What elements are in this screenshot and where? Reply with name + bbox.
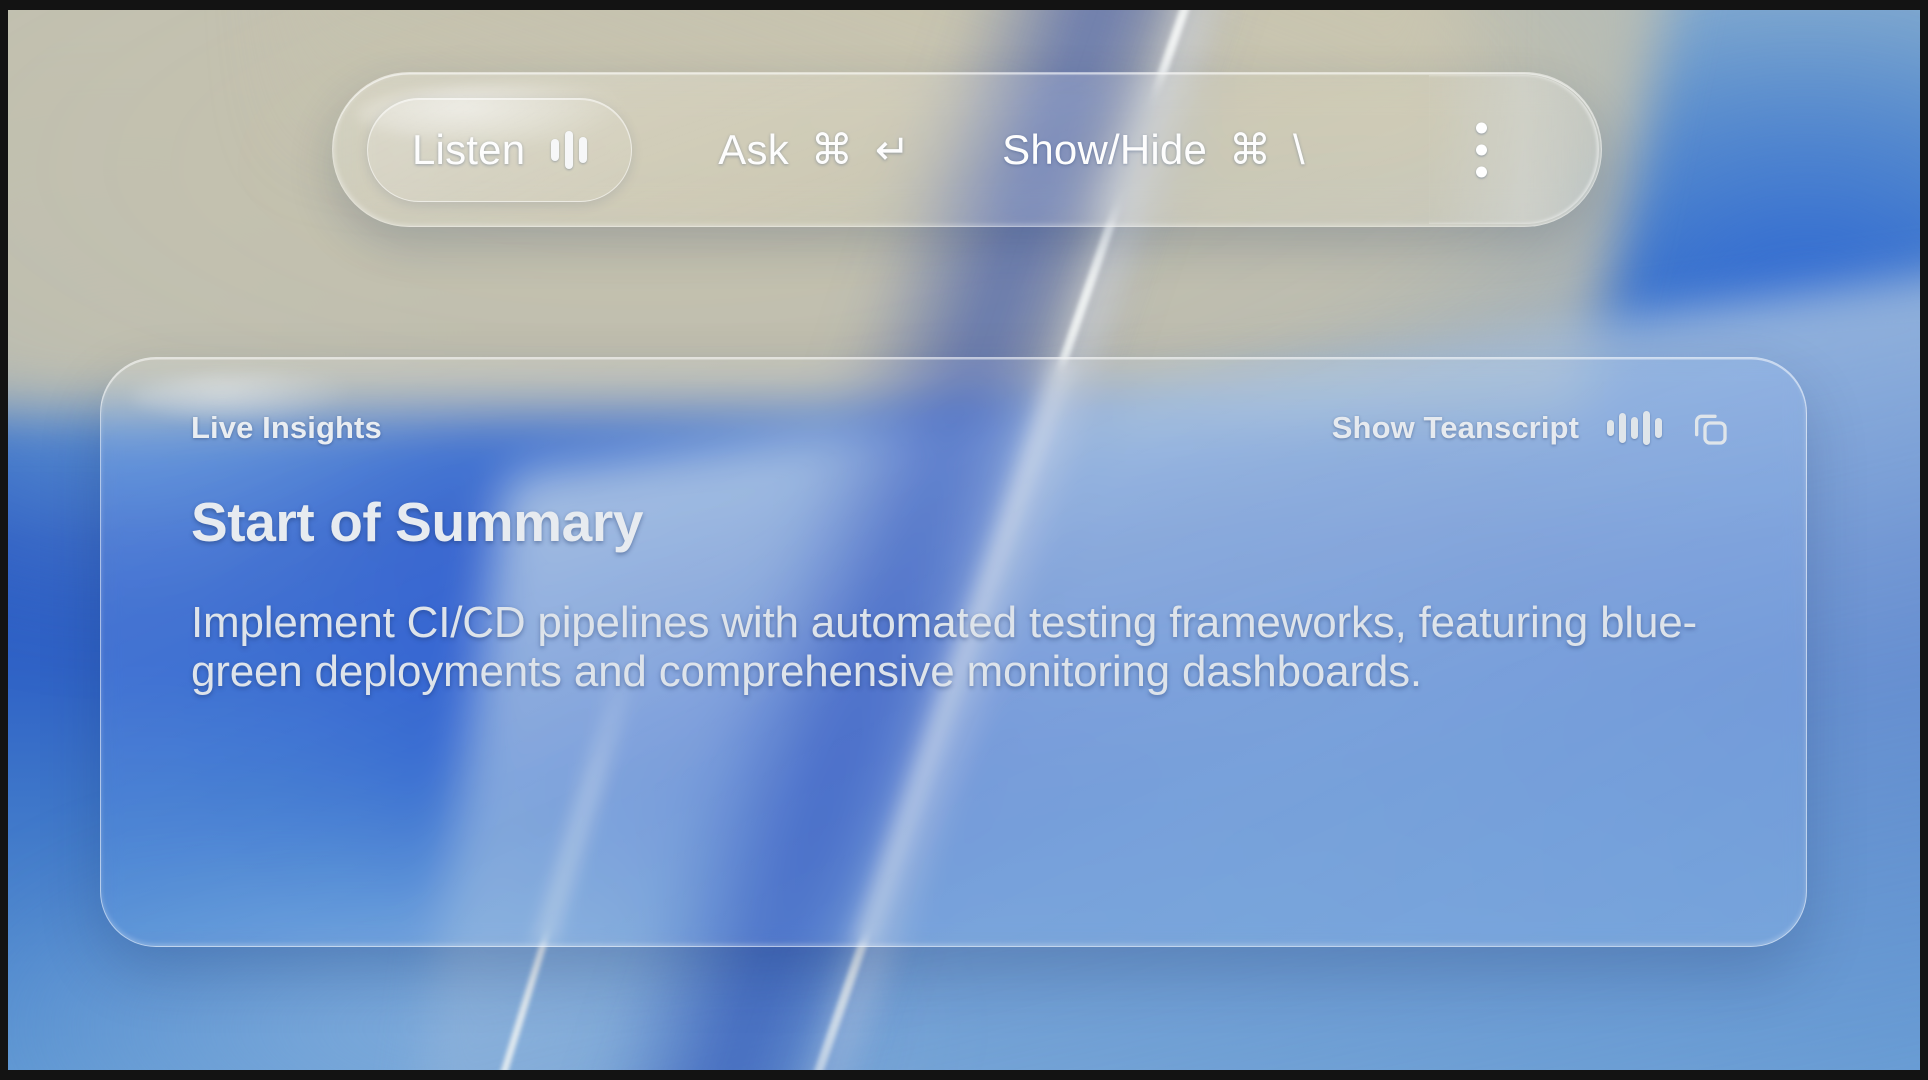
- toolbar-right-rim: [1429, 75, 1599, 224]
- kebab-dot: [1476, 144, 1487, 155]
- panel-heading: Start of Summary: [191, 490, 643, 554]
- waveform-bar: [1607, 420, 1614, 436]
- waveform-icon: [551, 130, 587, 170]
- show-hide-button-label: Show/Hide: [1002, 126, 1207, 174]
- waveform-bar: [1631, 417, 1638, 439]
- panel-eyebrow-label: Live Insights: [191, 410, 382, 446]
- listen-button-label: Listen: [412, 126, 525, 174]
- ask-button[interactable]: Ask ⌘ ↵: [712, 116, 916, 184]
- return-key-icon: ↵: [875, 129, 910, 171]
- command-key-icon: ⌘: [811, 129, 853, 171]
- show-transcript-button[interactable]: Show Teanscript: [1332, 410, 1579, 446]
- kebab-dot: [1476, 166, 1487, 177]
- kebab-menu-icon[interactable]: [1462, 112, 1501, 187]
- panel-header-actions: Show Teanscript: [1332, 408, 1730, 448]
- backslash-key-icon: \: [1293, 129, 1305, 171]
- show-hide-button[interactable]: Show/Hide ⌘ \: [996, 116, 1311, 184]
- waveform-bar: [565, 131, 573, 169]
- waveform-bar: [1655, 418, 1662, 438]
- screen-capture: Listen Ask ⌘ ↵ Show/Hide ⌘ \ Live Ins: [0, 0, 1928, 1080]
- panel-summary-text: Implement CI/CD pipelines with automated…: [191, 598, 1711, 697]
- live-insights-panel: Live Insights Show Teanscript Start of S…: [100, 357, 1807, 947]
- waveform-bar: [579, 137, 587, 163]
- waveform-bar: [1619, 413, 1626, 443]
- waveform-bar: [1643, 411, 1650, 445]
- command-key-icon: ⌘: [1229, 129, 1271, 171]
- floating-toolbar: Listen Ask ⌘ ↵ Show/Hide ⌘ \: [332, 72, 1602, 227]
- kebab-dot: [1476, 122, 1487, 133]
- waveform-bar: [551, 139, 559, 161]
- panel-header: Live Insights Show Teanscript: [191, 408, 1730, 448]
- listen-button[interactable]: Listen: [367, 98, 632, 202]
- waveform-icon[interactable]: [1607, 411, 1662, 445]
- copy-icon[interactable]: [1690, 408, 1730, 448]
- ask-button-label: Ask: [718, 126, 789, 174]
